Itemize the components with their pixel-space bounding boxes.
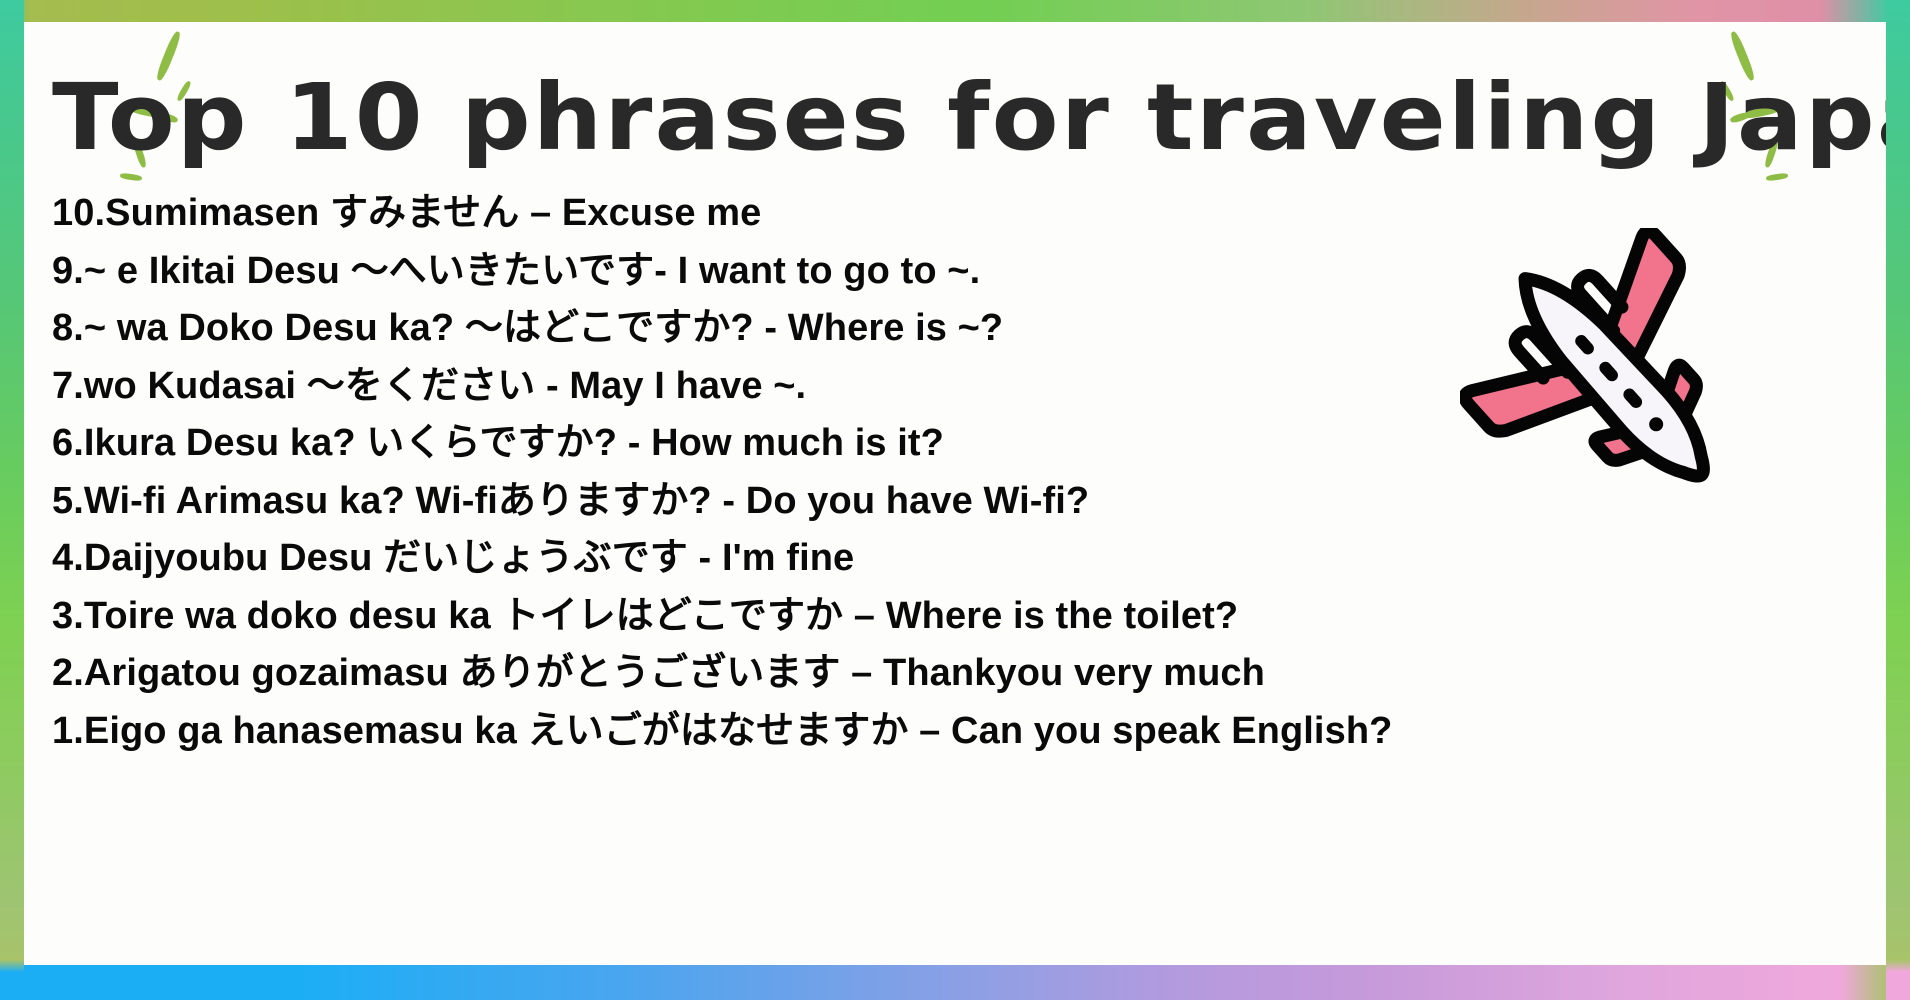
list-item: 10.Sumimasen すみません – Excuse me: [52, 185, 1862, 243]
slide-canvas: Top 10 phrases for traveling Japan: [0, 0, 1910, 1000]
list-item: 9.~ e Ikitai Desu 〜へいきたいです- I want to go…: [52, 243, 1862, 301]
slide-content-area: Top 10 phrases for traveling Japan: [24, 22, 1886, 965]
list-item: 1.Eigo ga hanasemasu ka えいごがはなせますか – Can…: [52, 703, 1862, 761]
sparkle-stroke: [1766, 172, 1789, 181]
frame-border-left: [0, 0, 24, 1000]
phrase-list: 10.Sumimasen すみません – Excuse me 9.~ e Iki…: [52, 185, 1862, 760]
sparkle-stroke: [120, 172, 143, 181]
list-item: 6.Ikura Desu ka? いくらですか? - How much is i…: [52, 415, 1862, 473]
list-item: 4.Daijyoubu Desu だいじょうぶです - I'm fine: [52, 530, 1862, 588]
list-item: 8.~ wa Doko Desu ka? 〜はどこですか? - Where is…: [52, 300, 1862, 358]
list-item: 7.wo Kudasai 〜をください - May I have ~.: [52, 358, 1862, 416]
page-title: Top 10 phrases for traveling Japan: [52, 72, 1886, 164]
list-item: 3.Toire wa doko desu ka トイレはどこですか – Wher…: [52, 588, 1862, 646]
list-item: 2.Arigatou gozaimasu ありがとうございます – Thanky…: [52, 645, 1862, 703]
frame-border-top: [0, 0, 1910, 22]
list-item: 5.Wi-fi Arimasu ka? Wi-fiありますか? - Do you…: [52, 473, 1862, 531]
frame-border-right: [1886, 0, 1910, 1000]
frame-border-bottom: [0, 965, 1910, 1000]
